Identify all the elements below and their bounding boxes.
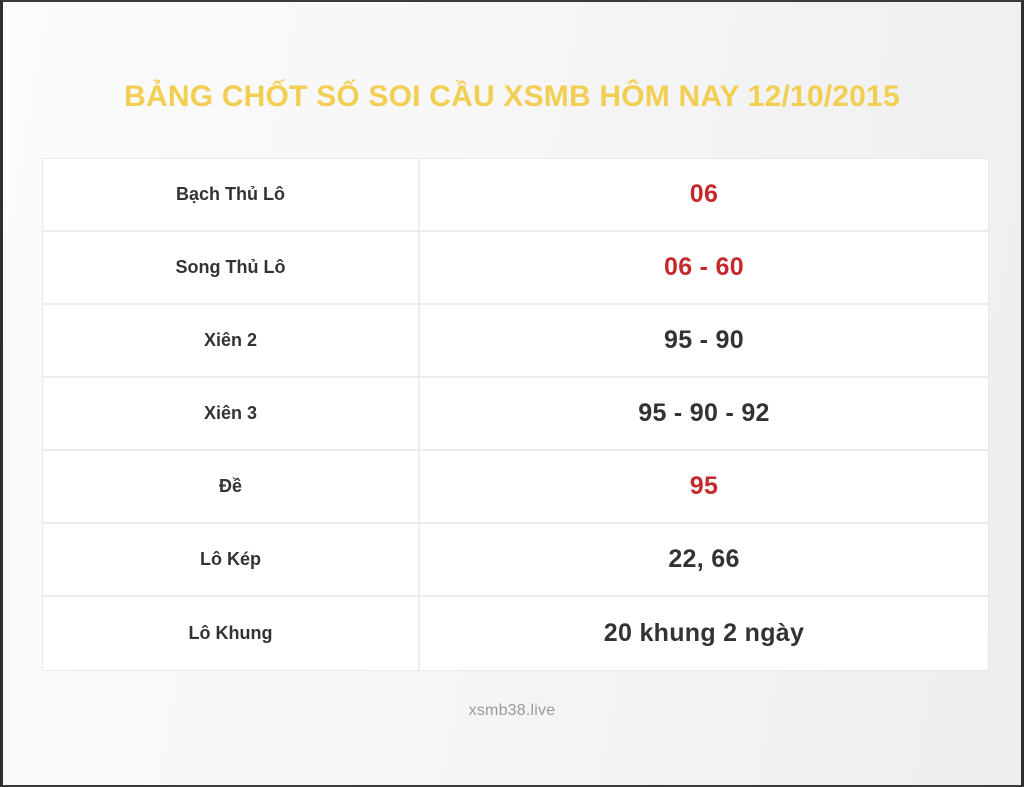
table-cell-label: Song Thủ Lô xyxy=(43,232,420,303)
table-cell-label: Đề xyxy=(43,451,420,522)
page-frame: BẢNG CHỐT SỐ SOI CẦU XSMB HÔM NAY 12/10/… xyxy=(0,0,1024,787)
row-value: 95 - 90 xyxy=(664,326,744,355)
row-label: Bạch Thủ Lô xyxy=(176,184,285,205)
table-row: Song Thủ Lô 06 - 60 xyxy=(43,232,988,305)
table-cell-value: 22, 66 xyxy=(420,524,988,595)
table-row: Lô Khung 20 khung 2 ngày xyxy=(43,597,988,670)
row-label: Lô Kép xyxy=(200,549,261,570)
row-value: 95 xyxy=(690,472,718,501)
table-cell-label: Bạch Thủ Lô xyxy=(43,159,420,230)
table-cell-value: 06 xyxy=(420,159,988,230)
row-label: Đề xyxy=(219,476,242,497)
row-value: 06 xyxy=(690,180,718,209)
table-row: Đề 95 xyxy=(43,451,988,524)
row-label: Lô Khung xyxy=(189,623,273,644)
page-title-text: BẢNG CHỐT SỐ SOI CẦU XSMB HÔM NAY 12/10/… xyxy=(124,80,900,115)
prediction-table: Bạch Thủ Lô 06 Song Thủ Lô 06 - 60 Xiên … xyxy=(42,158,989,671)
table-cell-value: 95 xyxy=(420,451,988,522)
page-title: BẢNG CHỐT SỐ SOI CẦU XSMB HÔM NAY 12/10/… xyxy=(3,80,1021,115)
footer-site-label: xsmb38.live xyxy=(469,702,556,719)
table-cell-value: 95 - 90 xyxy=(420,305,988,376)
table-row: Lô Kép 22, 66 xyxy=(43,524,988,597)
row-label: Xiên 2 xyxy=(204,330,257,351)
table-row: Bạch Thủ Lô 06 xyxy=(43,159,988,232)
table-cell-label: Lô Kép xyxy=(43,524,420,595)
table-cell-value: 95 - 90 - 92 xyxy=(420,378,988,449)
row-label: Xiên 3 xyxy=(204,403,257,424)
row-value: 95 - 90 - 92 xyxy=(638,399,769,428)
footer: xsmb38.live xyxy=(3,702,1021,720)
table-cell-label: Lô Khung xyxy=(43,597,420,670)
table-cell-label: Xiên 3 xyxy=(43,378,420,449)
table-cell-value: 20 khung 2 ngày xyxy=(420,597,988,670)
table-cell-label: Xiên 2 xyxy=(43,305,420,376)
table-cell-value: 06 - 60 xyxy=(420,232,988,303)
row-value: 20 khung 2 ngày xyxy=(604,619,804,648)
row-value: 22, 66 xyxy=(668,545,739,574)
table-row: Xiên 3 95 - 90 - 92 xyxy=(43,378,988,451)
row-value: 06 - 60 xyxy=(664,253,744,282)
table-row: Xiên 2 95 - 90 xyxy=(43,305,988,378)
row-label: Song Thủ Lô xyxy=(176,257,286,278)
